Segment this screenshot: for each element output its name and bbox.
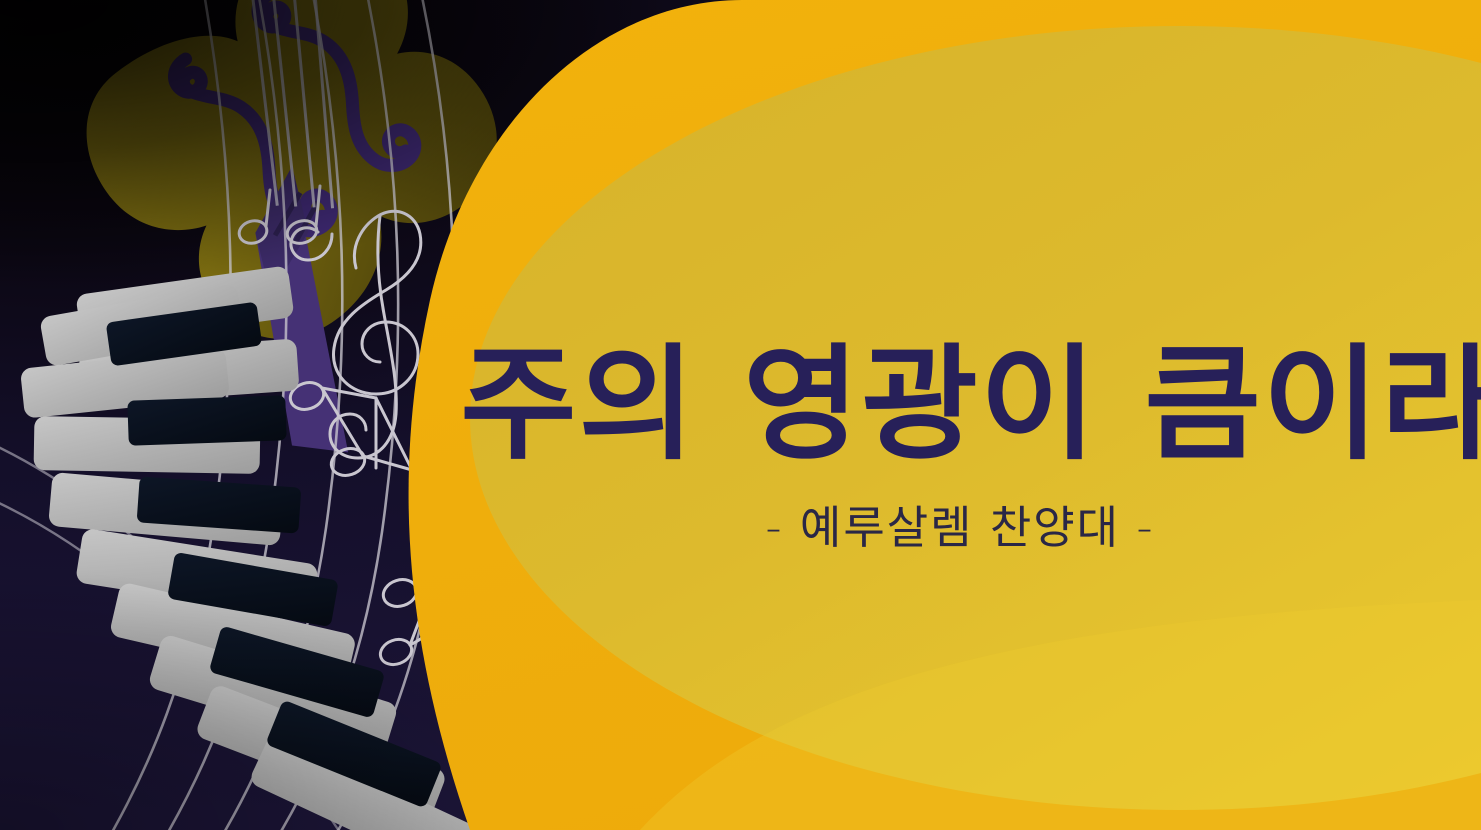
page-title: 주의 영광이 큼이라 (460, 340, 1460, 471)
title-slide: 주의 영광이 큼이라 - 예루살렘 찬양대 - (0, 0, 1481, 830)
page-subtitle: - 예루살렘 찬양대 - (470, 491, 1450, 556)
title-block: 주의 영광이 큼이라 - 예루살렘 찬양대 - (470, 340, 1450, 556)
